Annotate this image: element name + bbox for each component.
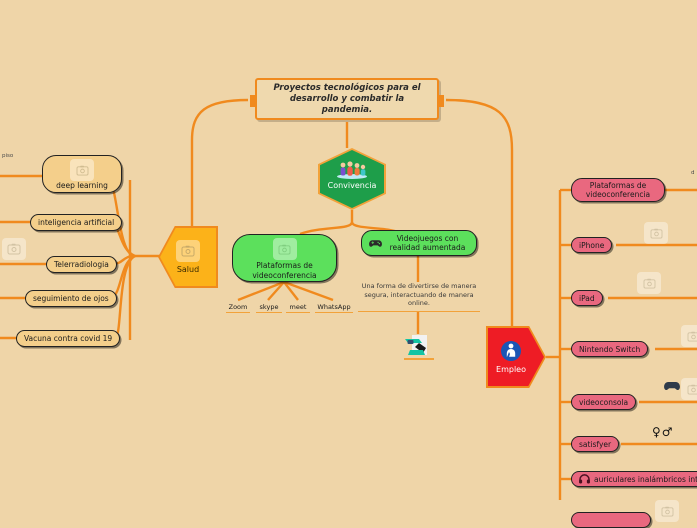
leaf-zoom[interactable]: Zoom: [226, 303, 250, 313]
leaf-whatsapp[interactable]: WhatsApp: [315, 303, 353, 313]
empleo-child-ipad[interactable]: iPad: [571, 290, 603, 306]
image-placeholder-icon: [273, 238, 297, 260]
root-tab-right: [438, 95, 444, 107]
mindmap-canvas: Proyectos tecnológicos para el desarroll…: [0, 0, 697, 520]
root-title-text: Proyectos tecnológicos para el desarroll…: [257, 83, 437, 116]
salud-child-inteligencia-artificial[interactable]: inteligencia artificial: [30, 214, 122, 231]
cut-off-label-piso: piso: [2, 153, 13, 159]
branch-node-empleo[interactable]: Empleo: [486, 326, 546, 388]
root-tab-left: [250, 95, 256, 107]
image-placeholder-icon: [644, 222, 668, 244]
empleo-content: Empleo: [486, 326, 546, 388]
image-placeholder-icon: [2, 238, 26, 260]
empleo-child-label: videoconsola: [579, 398, 628, 407]
empleo-child-label: auriculares inalámbricos int: [594, 475, 697, 484]
videojuegos-note: Una forma de divertirse de manera segura…: [358, 282, 480, 312]
node-videojuegos-realidad-aumentada[interactable]: Videojuegos con realidad aumentada: [361, 230, 477, 256]
headphones-icon: [579, 474, 590, 484]
salud-child-vacuna-covid[interactable]: Vacuna contra covid 19: [16, 330, 120, 347]
empleo-child-plataformas-videoconferencia[interactable]: Plataformas de videoconferencia: [571, 178, 665, 202]
salud-child-label: seguimiento de ojos: [33, 294, 109, 303]
central-node-label: Convivencia: [328, 181, 377, 190]
root-title-node[interactable]: Proyectos tecnológicos para el desarroll…: [255, 78, 439, 120]
empleo-child-iphone[interactable]: iPhone: [571, 237, 612, 253]
gender-symbols-decor: ♀♂: [652, 425, 674, 439]
salud-label: Salud: [177, 265, 199, 274]
salud-content: Salud: [158, 226, 218, 288]
empleo-child-label: Nintendo Switch: [579, 345, 640, 354]
salud-child-label: Vacuna contra covid 19: [24, 334, 112, 343]
empleo-child-label: iPhone: [579, 241, 604, 250]
image-placeholder-icon: [681, 378, 697, 400]
branch-node-salud[interactable]: Salud: [158, 226, 218, 288]
salud-child-label: inteligencia artificial: [38, 218, 114, 227]
videojuegos-label: Videojuegos con realidad aumentada: [386, 234, 469, 253]
node-plataformas-videoconferencia[interactable]: Plataformas de videoconferencia: [232, 234, 337, 282]
empleo-child-satisfyer[interactable]: satisfyer: [571, 436, 619, 452]
image-placeholder-icon: [637, 272, 661, 294]
leaf-meet[interactable]: meet: [286, 303, 310, 313]
empleo-child-label: iPad: [579, 294, 595, 303]
plataformas-label: Plataformas de videoconferencia: [233, 261, 336, 280]
leaf-skype[interactable]: skype: [256, 303, 282, 313]
empleo-child-nintendo-switch[interactable]: Nintendo Switch: [571, 341, 648, 357]
empleo-child-label: Plataformas de videoconferencia: [579, 181, 657, 200]
salud-child-label: deep learning: [56, 181, 108, 190]
gamepad-icon: [664, 381, 680, 391]
empleo-label: Empleo: [496, 365, 526, 374]
image-placeholder-icon: [176, 240, 200, 262]
gamepad-icon: [369, 239, 382, 248]
salud-child-seguimiento-de-ojos[interactable]: seguimiento de ojos: [25, 290, 117, 307]
salud-child-label: Telerradiologia: [54, 260, 109, 269]
people-illustration-icon: [335, 161, 369, 179]
image-placeholder-icon: [70, 159, 94, 181]
vr-headset-image: [404, 334, 434, 360]
image-placeholder-icon: [681, 325, 697, 347]
empleo-child-label: satisfyer: [579, 440, 611, 449]
cut-off-glyph: d: [691, 170, 695, 176]
salud-child-deep-learning[interactable]: deep learning: [42, 155, 122, 193]
central-node-convivencia[interactable]: Convivencia: [318, 148, 386, 210]
image-placeholder-icon: [655, 500, 679, 522]
empleo-child-videoconsola[interactable]: videoconsola: [571, 394, 636, 410]
empleo-child-cutoff[interactable]: [571, 512, 651, 528]
badge-icon: [500, 340, 522, 362]
empleo-child-auriculares[interactable]: auriculares inalámbricos int: [571, 471, 697, 487]
salud-child-telerradiologia[interactable]: Telerradiologia: [46, 256, 117, 273]
